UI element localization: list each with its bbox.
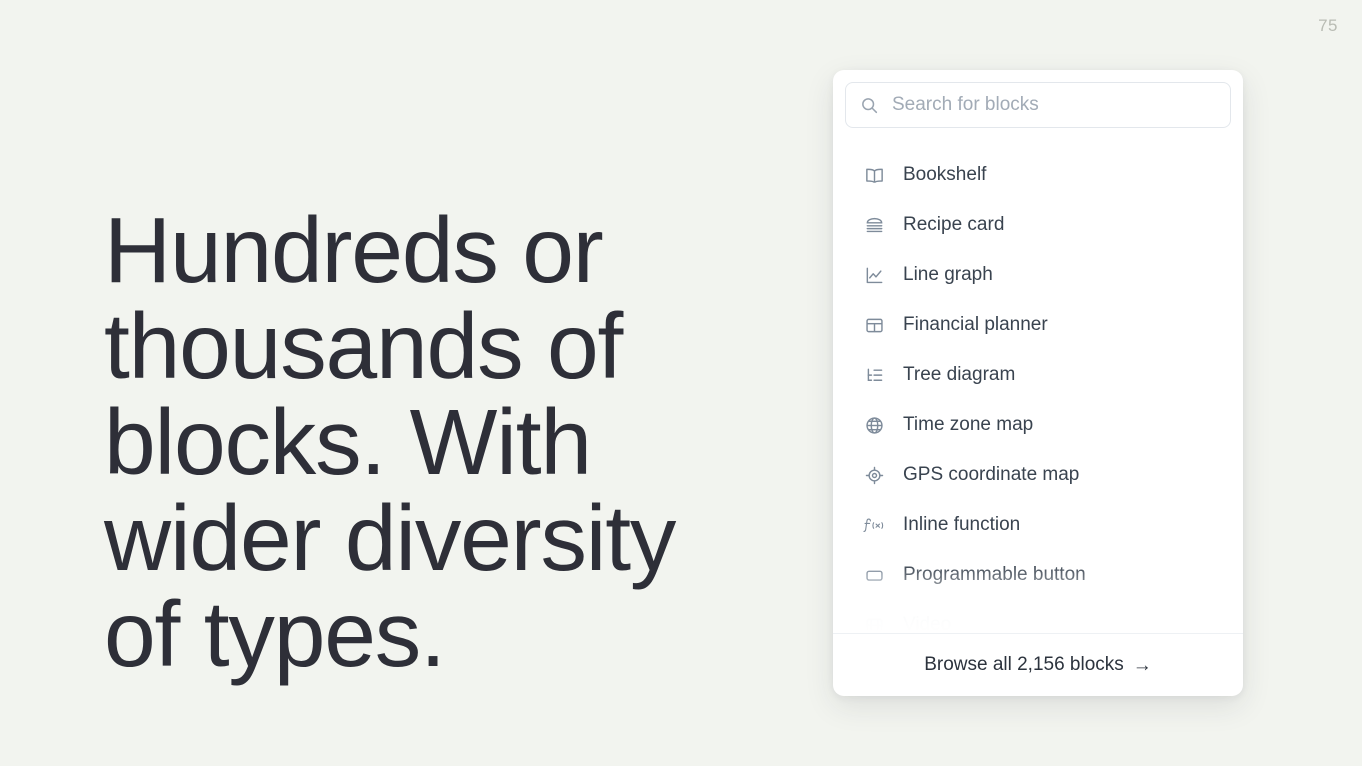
page-title: Hundreds or thousands of blocks. With wi… xyxy=(104,202,764,682)
rounded-rect-icon xyxy=(863,564,885,586)
list-item-label: Inline function xyxy=(903,514,1020,536)
block-picker-panel: Bookshelf Recipe card xyxy=(833,70,1243,696)
headline-line-2: thousands of xyxy=(104,298,764,394)
list-item-label: Bookshelf xyxy=(903,164,986,186)
search-input[interactable] xyxy=(890,93,1216,117)
table-grid-icon xyxy=(863,314,885,336)
headline-line-3: blocks. With xyxy=(104,394,764,490)
search-box[interactable] xyxy=(845,82,1231,128)
list-item[interactable]: Bookshelf xyxy=(833,150,1243,200)
list-item[interactable]: Line graph xyxy=(833,250,1243,300)
line-chart-icon xyxy=(863,264,885,286)
function-fx-icon xyxy=(863,514,885,536)
headline-line-4: wider diversity xyxy=(104,490,764,586)
list-item[interactable]: Financial planner xyxy=(833,300,1243,350)
block-list: Bookshelf Recipe card xyxy=(833,128,1243,633)
list-item[interactable]: Recipe card xyxy=(833,200,1243,250)
book-open-icon xyxy=(863,164,885,186)
list-item[interactable]: Time zone map xyxy=(833,400,1243,450)
list-item-label: Programmable button xyxy=(903,564,1086,586)
block-list-region: Bookshelf Recipe card xyxy=(833,128,1243,633)
arrow-right-icon: → xyxy=(1133,656,1152,675)
tree-list-icon xyxy=(863,364,885,386)
list-item-label: Line graph xyxy=(903,264,993,286)
list-item-label: Financial planner xyxy=(903,314,1048,336)
list-item-label: Video xyxy=(903,614,951,633)
browse-all-blocks-label: Browse all 2,156 blocks xyxy=(924,654,1124,676)
globe-icon xyxy=(863,414,885,436)
search-section xyxy=(833,70,1243,128)
palette-footer: Browse all 2,156 blocks → xyxy=(833,633,1243,696)
list-item[interactable]: Tree diagram xyxy=(833,350,1243,400)
headline-line-1: Hundreds or xyxy=(104,202,764,298)
list-item-label: Time zone map xyxy=(903,414,1033,436)
list-item[interactable]: Programmable button xyxy=(833,550,1243,600)
list-item[interactable]: GPS coordinate map xyxy=(833,450,1243,500)
list-item-label: GPS coordinate map xyxy=(903,464,1079,486)
browse-all-blocks-link[interactable]: Browse all 2,156 blocks → xyxy=(924,654,1152,676)
list-item-label: Tree diagram xyxy=(903,364,1015,386)
list-item[interactable]: Inline function xyxy=(833,500,1243,550)
page-number: 75 xyxy=(1318,16,1338,36)
film-frame-icon xyxy=(863,614,885,633)
recipe-stack-icon xyxy=(863,214,885,236)
list-item[interactable]: Video xyxy=(833,600,1243,633)
search-icon xyxy=(860,96,879,115)
headline-line-5: of types. xyxy=(104,586,764,682)
gps-crosshair-icon xyxy=(863,464,885,486)
list-item-label: Recipe card xyxy=(903,214,1004,236)
